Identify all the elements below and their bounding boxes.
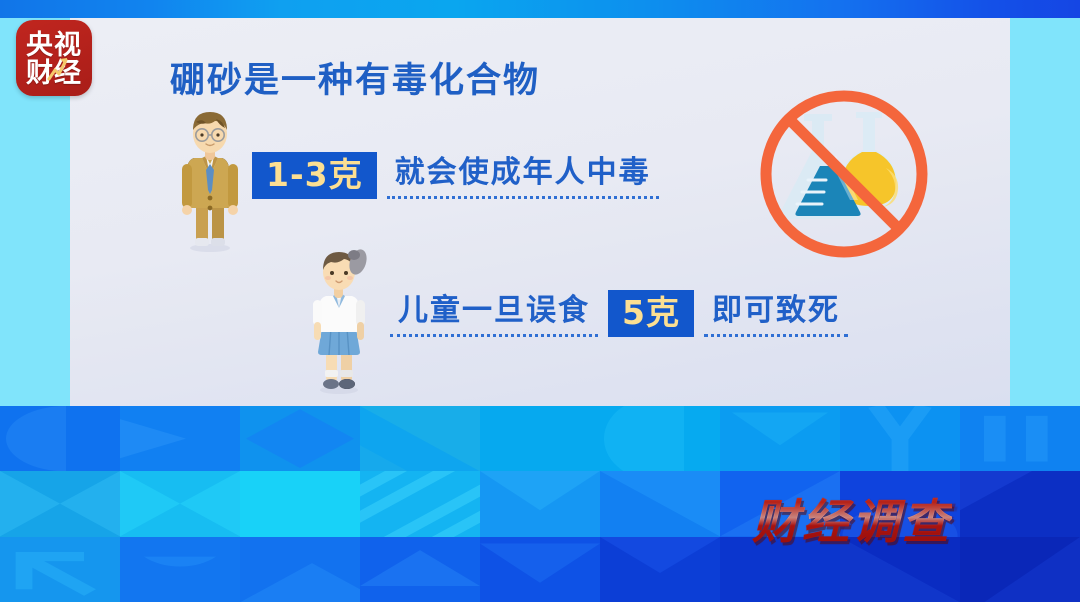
banner-tile [240,537,360,602]
cctv-finance-logo: 央视 财经 [16,20,92,96]
banner-tile [960,537,1080,602]
logo-line-1: 央视 [16,32,92,59]
page-title: 硼砂是一种有毒化合物 [170,52,540,103]
banner-tile [840,406,960,471]
banner-tile [480,537,600,602]
banner-tile [120,471,240,536]
banner-tile [120,537,240,602]
banner-tile [600,537,720,602]
banner-tile [360,471,480,536]
statement-text-child-before: 儿童一旦误食 [390,294,598,338]
banner-tile [600,406,720,471]
banner-tile [0,471,120,536]
banner-tile [0,537,120,602]
dose-badge-adult: 1-3克 [252,152,377,199]
banner-tile [600,471,720,536]
dose-badge-child: 5克 [608,290,694,337]
banner-tile [240,471,360,536]
banner-tile [120,406,240,471]
banner-tile [240,406,360,471]
statement-row-child: 儿童一旦误食 5克 即可致死 [390,290,848,337]
banner-tile [360,537,480,602]
banner-tile [480,471,600,536]
broadcast-frame: 央视 财经 硼砂是一种有毒化合物 [0,0,1080,602]
no-chemicals-flasks-icon [752,82,936,266]
statement-row-adult: 1-3克 就会使成年人中毒 [252,152,659,199]
statement-text-child-after: 即可致死 [704,294,848,338]
logo-line-2: 财经 [16,60,92,87]
right-cyan-panel [1010,18,1080,406]
banner-tile [720,406,840,471]
statement-text-adult: 就会使成年人中毒 [387,156,659,200]
banner-tile [480,406,600,471]
banner-tile [0,406,120,471]
top-gradient-strip [0,0,1080,18]
child-girl-figure [298,242,380,394]
banner-tile [960,471,1080,536]
banner-tile [960,406,1080,471]
program-title: 财经调查 [752,483,952,552]
banner-tile [360,406,480,471]
adult-man-figure [168,106,252,252]
